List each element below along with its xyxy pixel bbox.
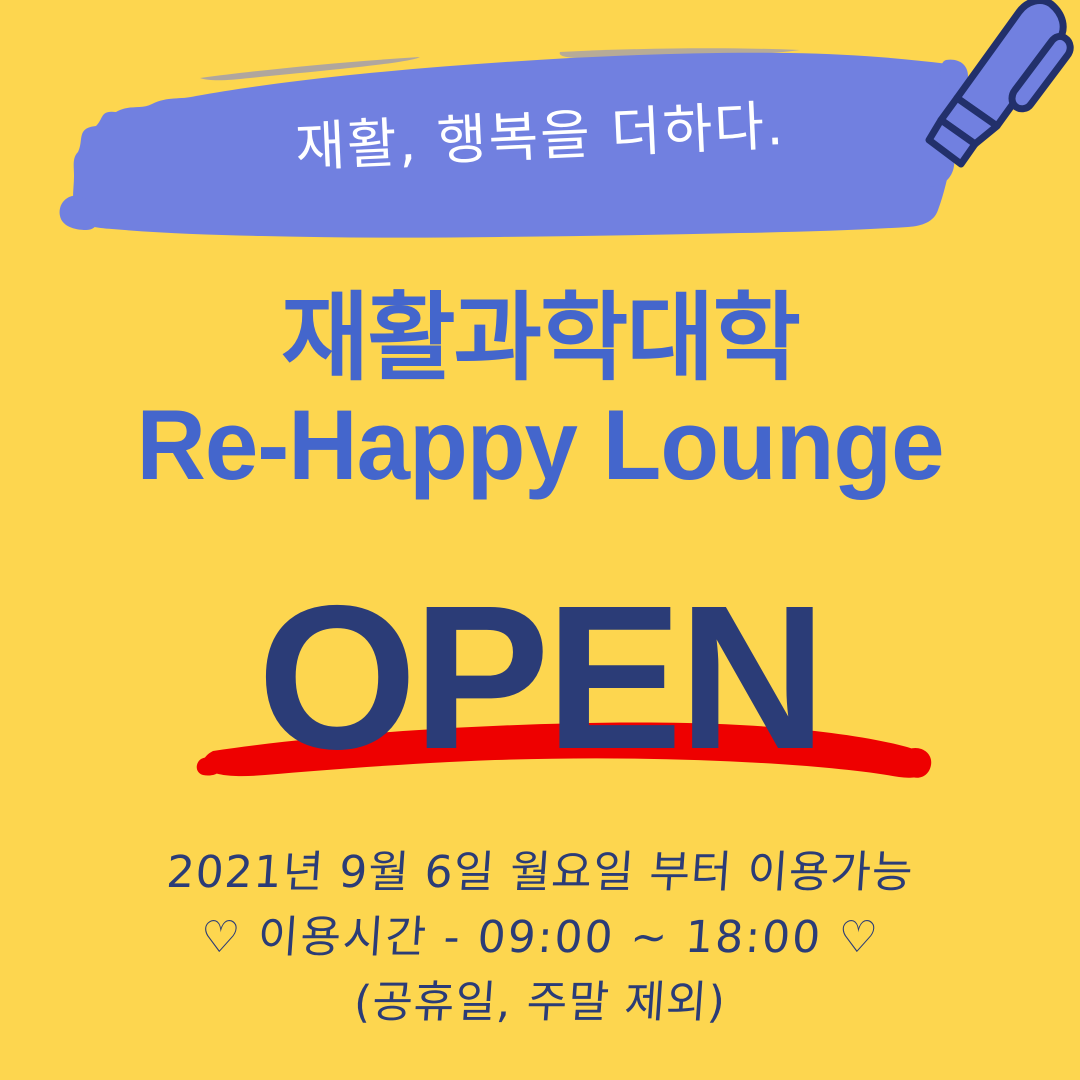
- status-badge-open: OPEN: [0, 575, 1080, 780]
- footer-info-group: 2021년 9월 6일 월요일 부터 이용가능 ♡ 이용시간 - 09:00 ~…: [0, 840, 1080, 1035]
- page-title-korean: 재활과학대학: [0, 288, 1080, 389]
- page-title-english: Re-Happy Lounge: [16, 393, 1064, 497]
- open-status-group: OPEN: [0, 575, 1080, 805]
- highlighter-pen-icon: [905, 0, 1080, 182]
- footer-exceptions: (공휴일, 주말 제외): [0, 970, 1080, 1035]
- heading-group: 재활과학대학 Re-Happy Lounge: [0, 288, 1080, 497]
- footer-opening-hours: ♡ 이용시간 - 09:00 ~ 18:00 ♡: [0, 905, 1080, 970]
- poster-canvas: 재활, 행복을 더하다. 재활과학대학 Re-Happy Lounge OPEN…: [0, 0, 1080, 1080]
- footer-start-date: 2021년 9월 6일 월요일 부터 이용가능: [0, 840, 1080, 905]
